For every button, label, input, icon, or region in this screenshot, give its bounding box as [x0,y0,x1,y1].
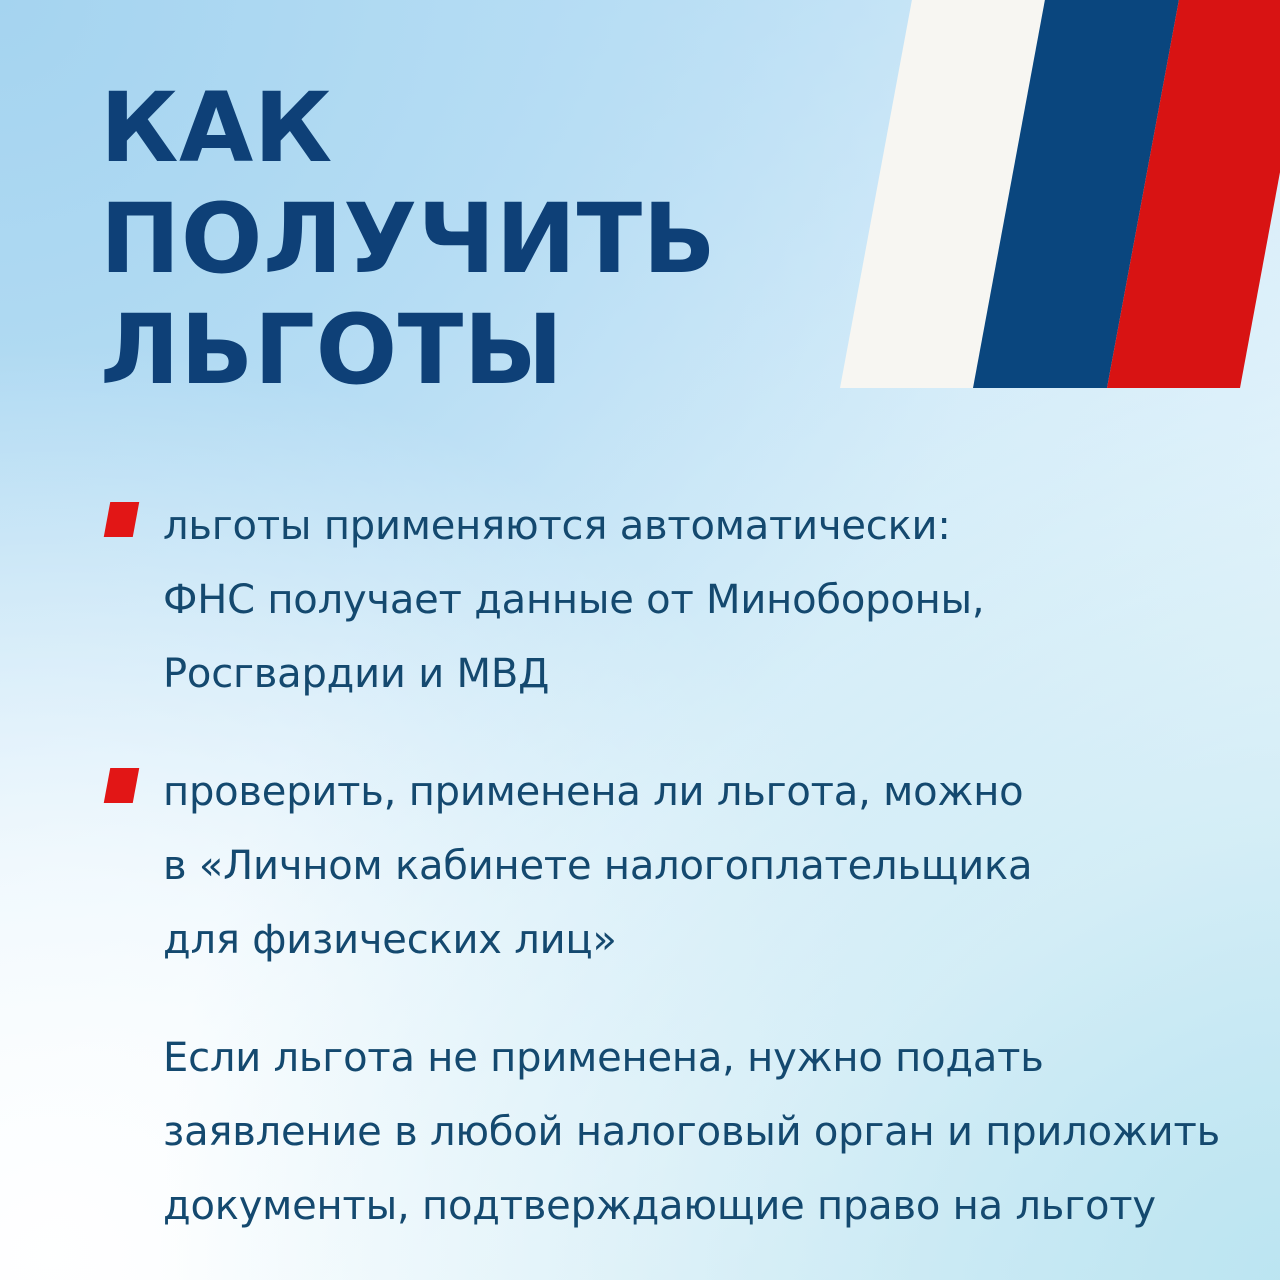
bullet-marker-icon [104,768,139,803]
content-body: льготы применяются автоматически: ФНС по… [106,489,1236,1243]
paragraph-line: документы, подтверждающие право на льгот… [163,1169,1236,1243]
russian-flag [840,0,1280,388]
infographic-poster: КАК ПОЛУЧИТЬ ЛЬГОТЫ льготы применяются а… [0,0,1280,1280]
list-item-line: льготы применяются автоматически: [163,489,1236,563]
list-item-line: ФНС получает данные от Минобороны, [163,563,1236,637]
paragraph-line: заявление в любой налоговый орган и прил… [163,1095,1236,1169]
list-item-line: для физических лиц» [163,903,1236,977]
list-item-line: в «Личном кабинете налогоплательщика [163,829,1236,903]
page-title: КАК ПОЛУЧИТЬ ЛЬГОТЫ [100,73,800,406]
list-item: проверить, применена ли льгота, можно в … [106,755,1236,977]
page-title-line-3: ЛЬГОТЫ [100,295,800,406]
list-item-line: Росгвардии и МВД [163,637,1236,711]
list-item-line: проверить, применена ли льгота, можно [163,755,1236,829]
closing-paragraph: Если льгота не применена, нужно подать з… [106,1021,1236,1243]
bullet-marker-icon [104,502,139,537]
page-title-line-1: КАК [100,73,800,184]
page-title-line-2: ПОЛУЧИТЬ [100,184,800,295]
list-item: льготы применяются автоматически: ФНС по… [106,489,1236,711]
paragraph-line: Если льгота не применена, нужно подать [163,1021,1236,1095]
